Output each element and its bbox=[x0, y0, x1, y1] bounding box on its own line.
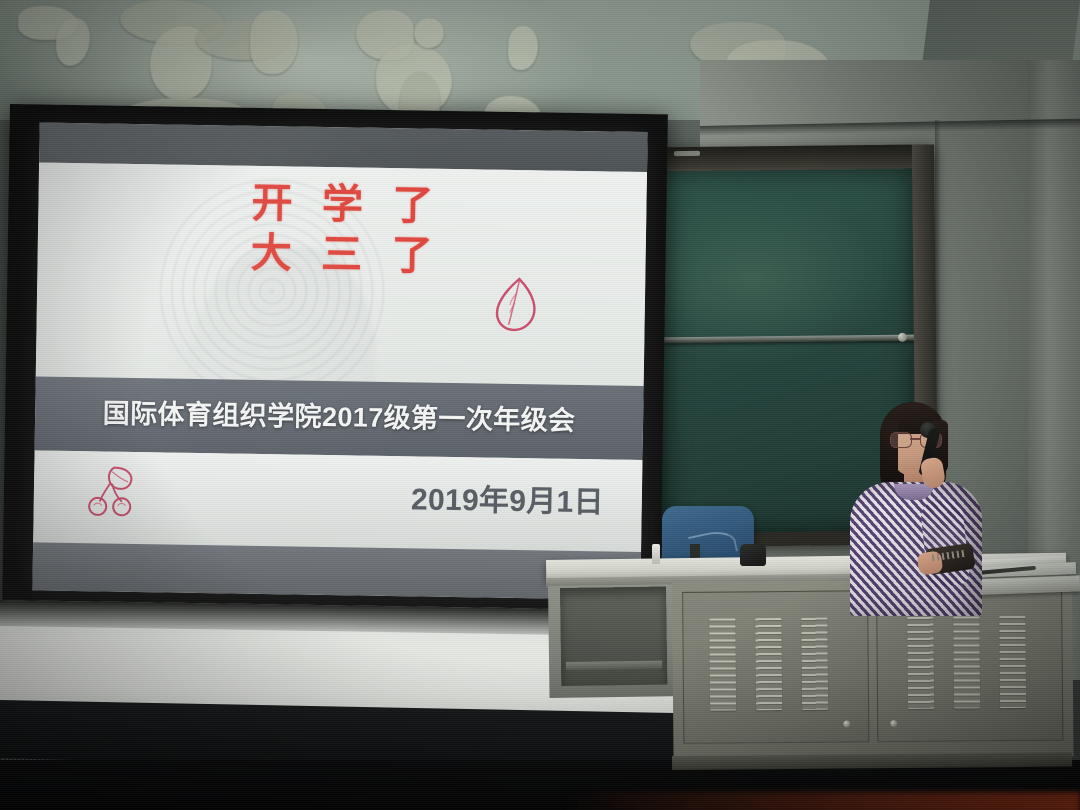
slide-headline: 开 学 了 大 三 了 bbox=[37, 174, 646, 284]
louver-vent bbox=[755, 618, 782, 710]
chalkboard-hook bbox=[674, 151, 700, 156]
hair-side-left bbox=[882, 420, 898, 482]
louver-vent bbox=[953, 616, 980, 708]
stage-warm-glow bbox=[560, 792, 1080, 810]
water-bottle bbox=[652, 544, 660, 564]
presentation-slide: 开 学 了 大 三 了 国际体育组织学院2017级第一次年级会 bbox=[32, 122, 647, 599]
paint-peel bbox=[508, 26, 538, 70]
leaf-icon bbox=[488, 275, 541, 338]
paint-peel bbox=[250, 10, 298, 74]
glasses-bridge bbox=[910, 438, 920, 440]
cherry-icon bbox=[83, 461, 142, 520]
paint-peel bbox=[56, 18, 90, 66]
chalkboard-top-lip bbox=[634, 144, 934, 169]
podium-shelf-board bbox=[566, 661, 662, 670]
slide-date: 2019年9月1日 bbox=[411, 474, 604, 521]
paint-peel bbox=[414, 18, 444, 48]
cabinet-lock[interactable] bbox=[843, 720, 850, 727]
louver-vent bbox=[709, 618, 736, 710]
cabinet-lock[interactable] bbox=[890, 720, 897, 727]
podium-under-shelf bbox=[560, 587, 667, 686]
chalkboard-knob bbox=[898, 333, 907, 342]
louver-vent bbox=[999, 616, 1026, 708]
presenter bbox=[838, 396, 1008, 616]
slide-headline-line2: 大 三 了 bbox=[46, 225, 646, 284]
slide-headline-line1: 开 学 了 bbox=[251, 180, 443, 229]
glasses-lens-left bbox=[890, 432, 912, 448]
projection-screen: 开 学 了 大 三 了 国际体育组织学院2017级第一次年级会 bbox=[2, 104, 668, 626]
louver-vent bbox=[801, 618, 828, 710]
black-object bbox=[740, 544, 766, 566]
louver-vent bbox=[907, 617, 934, 709]
classroom-photo: 开 学 了 大 三 了 国际体育组织学院2017级第一次年级会 bbox=[0, 0, 1080, 810]
